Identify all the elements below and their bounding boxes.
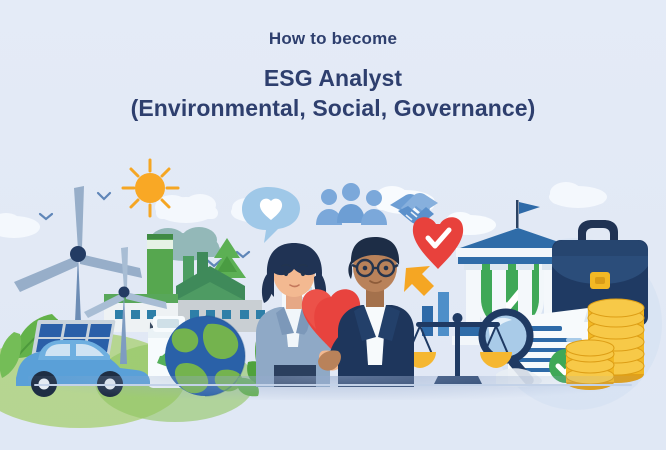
headline-block: How to become ESG Analyst (Environmental… [0, 30, 666, 123]
kicker-text: How to become [0, 30, 666, 49]
governance-group [400, 196, 666, 388]
people-group-figures [246, 215, 416, 387]
flag-icon [516, 200, 540, 228]
ground-line [34, 384, 632, 386]
title-line-2: (Environmental, Social, Governance) [0, 93, 666, 123]
title-line-1: ESG Analyst [264, 65, 402, 91]
heart-check-icon [413, 217, 463, 269]
ground-shadow [28, 376, 638, 400]
environmental-group [0, 182, 270, 388]
bar-chart-icon [422, 292, 449, 336]
page-title: ESG Analyst (Environmental, Social, Gove… [0, 63, 666, 124]
esg-hero-banner: How to become ESG Analyst (Environmental… [0, 0, 666, 450]
